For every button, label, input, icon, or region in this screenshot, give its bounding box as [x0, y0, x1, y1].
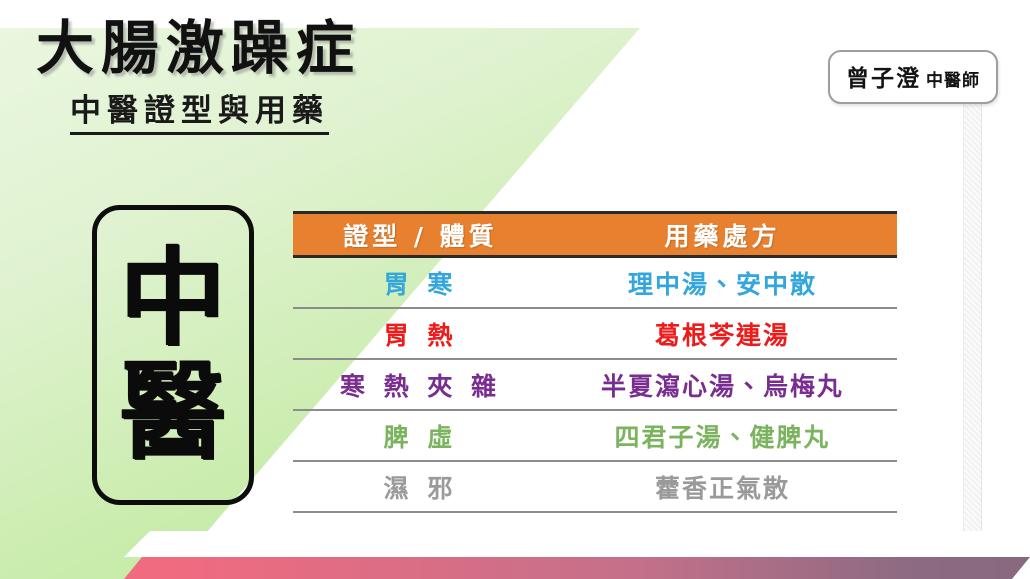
cell-pattern: 胃 熱	[293, 308, 548, 359]
table-row: 脾 虛四君子湯、健脾丸	[293, 410, 897, 461]
cell-formula: 四君子湯、健脾丸	[548, 410, 897, 461]
seal-char-zhong: 中	[120, 244, 226, 352]
subtitle-underline: 中醫證型與用藥	[70, 85, 329, 135]
cell-formula: 葛根芩連湯	[548, 308, 897, 359]
bottom-gradient-bar	[0, 557, 1030, 579]
cell-pattern: 濕 邪	[293, 461, 548, 512]
column-header-pattern: 證型 / 體質	[293, 213, 548, 257]
cell-pattern: 胃 寒	[293, 257, 548, 309]
author-badge: 曾子澄 中醫師	[828, 50, 998, 104]
page-subtitle: 中醫證型與用藥	[70, 85, 329, 130]
table-row: 寒 熱 夾 雜半夏瀉心湯、烏梅丸	[293, 359, 897, 410]
table-body: 胃 寒理中湯、安中散胃 熱葛根芩連湯寒 熱 夾 雜半夏瀉心湯、烏梅丸脾 虛四君子…	[293, 257, 897, 513]
cell-pattern: 寒 熱 夾 雜	[293, 359, 548, 410]
author-role: 中醫師	[926, 66, 980, 91]
table-row: 濕 邪藿香正氣散	[293, 461, 897, 512]
table-row: 胃 寒理中湯、安中散	[293, 257, 897, 309]
cell-formula: 半夏瀉心湯、烏梅丸	[548, 359, 897, 410]
author-name: 曾子澄	[846, 59, 921, 93]
table-header-row: 證型 / 體質 用藥處方	[293, 213, 897, 257]
cell-pattern: 脾 虛	[293, 410, 548, 461]
tcm-seal-stamp: 中 醫	[92, 205, 254, 505]
page-title: 大腸激躁症	[36, 18, 596, 79]
table-row: 胃 熱葛根芩連湯	[293, 308, 897, 359]
prescription-table: 證型 / 體質 用藥處方 胃 寒理中湯、安中散胃 熱葛根芩連湯寒 熱 夾 雜半夏…	[293, 211, 897, 513]
slide-canvas: 大腸激躁症 中醫證型與用藥 曾子澄 中醫師 中 醫 證型 / 體質 用藥處方 胃…	[0, 0, 1030, 579]
cell-formula: 理中湯、安中散	[548, 257, 897, 309]
column-header-formula: 用藥處方	[548, 213, 897, 257]
title-block: 大腸激躁症 中醫證型與用藥	[36, 18, 596, 135]
seal-char-yi: 醫	[120, 358, 226, 466]
badge-ribbon-strip	[963, 86, 982, 564]
cell-formula: 藿香正氣散	[548, 461, 897, 512]
bottom-white-band	[0, 531, 1030, 557]
